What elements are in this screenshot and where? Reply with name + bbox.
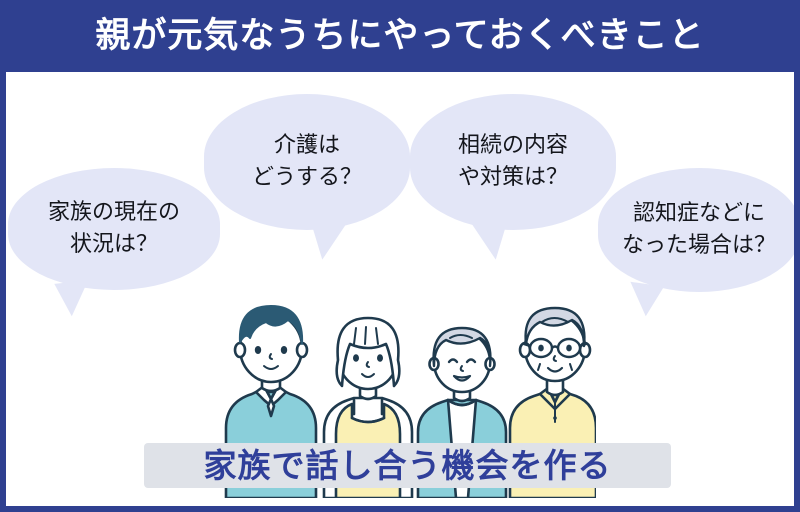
- speech-bubble-family-situation: 家族の現在の 状況は？: [8, 168, 220, 290]
- speech-bubble-inheritance: 相続の内容 や対策は？: [410, 94, 616, 230]
- bubble-tail-icon: [470, 218, 511, 261]
- banner-text: 家族で話し合う機会を作る: [204, 449, 612, 482]
- conclusion-banner: 家族で話し合う機会を作る: [144, 443, 671, 488]
- page-title: 親が元気なうちにやっておくべきこと: [95, 19, 704, 54]
- bubble-line: や対策は？: [458, 162, 568, 194]
- bubble-line: 相続の内容: [458, 130, 568, 162]
- illustration-stage: 家族の現在の 状況は？ 介護は どうする？ 相続の内容 や対策は？ 認知症などに…: [6, 72, 794, 506]
- bubble-line: 認知症などに: [633, 198, 765, 230]
- infographic-root: 親が元気なうちにやっておくべきこと 家族の現在の 状況は？ 介護は どうする？ …: [0, 0, 800, 512]
- bubble-tail-icon: [306, 218, 347, 261]
- speech-bubble-dementia: 認知症などに なった場合は？: [598, 168, 794, 292]
- bubble-line: 家族の現在の: [48, 197, 180, 229]
- bubble-line: 介護は: [274, 130, 340, 162]
- bubble-tail-icon: [54, 280, 91, 317]
- bubble-tail-icon: [626, 282, 664, 318]
- header-bar: 親が元気なうちにやっておくべきこと: [0, 0, 800, 72]
- bubble-line: どうする？: [252, 162, 362, 194]
- bubble-line: なった場合は？: [622, 230, 776, 262]
- speech-bubble-nursing-care: 介護は どうする？: [204, 94, 410, 230]
- bubble-line: 状況は？: [70, 229, 158, 261]
